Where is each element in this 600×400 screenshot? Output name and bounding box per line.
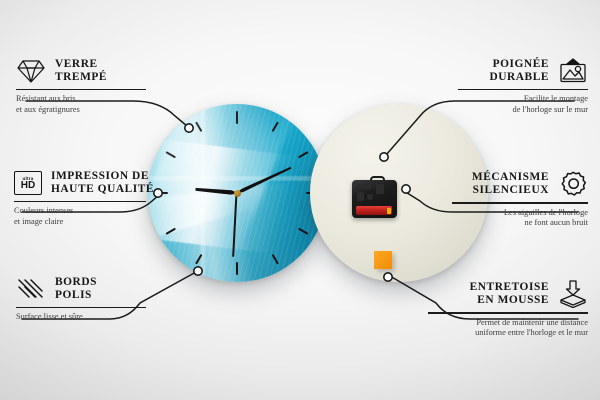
feature-header: BORDS POLIS [16,276,146,303]
feature-impression-haute-qualite: ultra HD IMPRESSION DE HAUTE QUALITÉ Cou… [14,170,154,227]
feature-header: POIGNÉE DURABLE [458,58,588,85]
feature-bords-polis: BORDS POLIS Surface lisse et sûre [16,276,146,323]
feature-subtitle: Résistant aux bris et aux égratignures [16,94,146,115]
feature-subtitle: Surface lisse et sûre [16,312,146,322]
infographic-stage: VERRE TREMPÉ Résistant aux bris et aux é… [0,0,600,400]
connector-dot-verre-trempe [185,124,193,132]
feature-title: IMPRESSION DE HAUTE QUALITÉ [51,170,154,197]
feature-subtitle: Couleurs intenses et image claire [14,206,154,227]
divider [14,201,146,203]
foam-spacer-icon [558,280,588,308]
divider [428,312,588,314]
feature-entretoise-en-mousse: ENTRETOISE EN MOUSSE Permet de maintenir… [428,280,588,338]
gear-icon [558,170,588,198]
feature-header: VERRE TREMPÉ [16,58,146,85]
feature-header: ultra HD IMPRESSION DE HAUTE QUALITÉ [14,170,154,197]
feature-title: VERRE TREMPÉ [55,58,107,85]
connector-dot-mecanisme [402,185,410,193]
divider [16,307,146,309]
ultra-hd-icon: ultra HD [14,171,42,195]
divider [16,89,146,91]
feature-mecanisme-silencieux: MÉCANISME SILENCIEUX Les aiguilles de l'… [452,170,588,228]
feature-poignee-durable: POIGNÉE DURABLE Facilite le montage de l… [458,58,588,115]
feature-title: BORDS POLIS [55,276,97,303]
polished-edges-icon [16,276,46,302]
feature-subtitle: Les aiguilles de l'horloge ne font aucun… [452,208,588,229]
divider [452,202,588,204]
feature-verre-trempe: VERRE TREMPÉ Résistant aux bris et aux é… [16,58,146,115]
feature-subtitle: Facilite le montage de l'horloge sur le … [458,94,588,115]
feature-title: POIGNÉE DURABLE [489,58,549,85]
connector-dot-bords-polis [194,267,202,275]
feature-header: MÉCANISME SILENCIEUX [452,170,588,198]
ultra-hd-main-text: HD [21,181,35,191]
connector-dot-poignee [380,153,388,161]
hanging-frame-icon [558,58,588,84]
feature-title: MÉCANISME SILENCIEUX [472,171,549,198]
feature-header: ENTRETOISE EN MOUSSE [428,280,588,308]
feature-title: ENTRETOISE EN MOUSSE [470,281,549,308]
connector-dot-entretoise [384,273,392,281]
feature-subtitle: Permet de maintenir une distance uniform… [428,318,588,339]
connector-dot-impression [154,189,162,197]
divider [458,89,588,91]
diamond-icon [16,58,46,84]
